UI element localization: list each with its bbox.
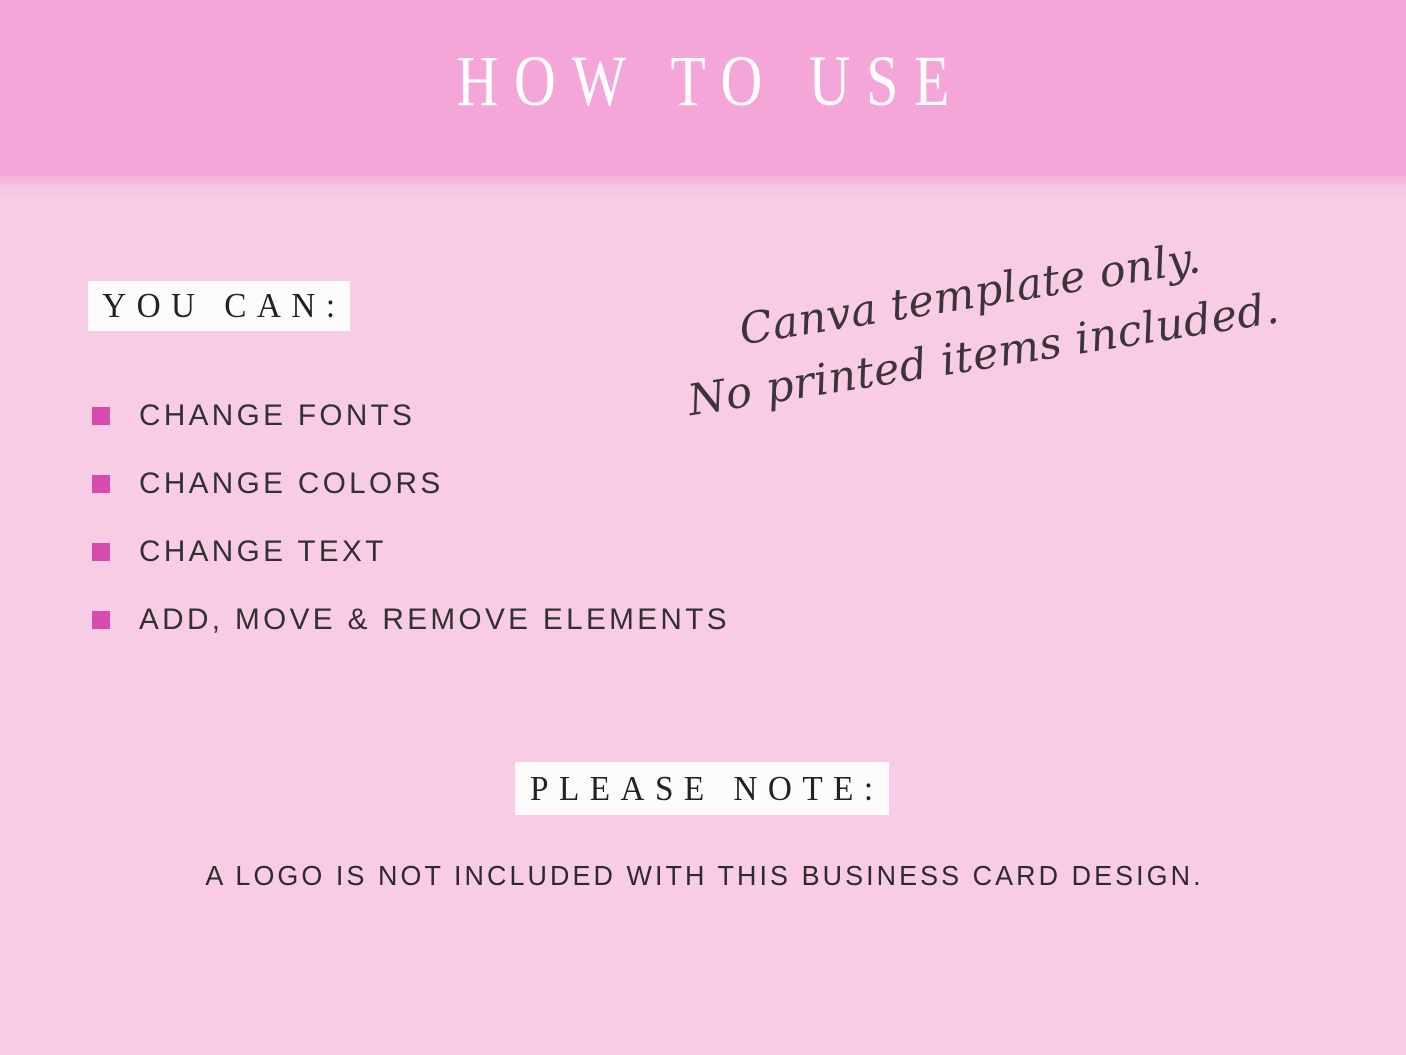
header-gradient-divider	[0, 176, 1406, 202]
square-bullet-icon	[92, 611, 110, 629]
list-item-label: CHANGE COLORS	[139, 467, 444, 501]
list-item-label: CHANGE FONTS	[139, 399, 415, 433]
list-item-label: CHANGE TEXT	[139, 535, 387, 569]
list-item-label: ADD, MOVE & REMOVE ELEMENTS	[139, 603, 730, 637]
you-can-list: CHANGE FONTS CHANGE COLORS CHANGE TEXT A…	[92, 382, 992, 654]
please-note-label-box: PLEASE NOTE:	[515, 762, 889, 815]
list-item: CHANGE TEXT	[92, 518, 992, 586]
list-item: ADD, MOVE & REMOVE ELEMENTS	[92, 586, 992, 654]
please-note-body: A LOGO IS NOT INCLUDED WITH THIS BUSINES…	[28, 860, 1378, 892]
page-title: HOW TO USE	[141, 26, 1266, 136]
list-item: CHANGE COLORS	[92, 450, 992, 518]
you-can-label-box: YOU CAN:	[88, 281, 350, 331]
square-bullet-icon	[92, 407, 110, 425]
header-band: HOW TO USE	[0, 0, 1406, 176]
square-bullet-icon	[92, 475, 110, 493]
you-can-label: YOU CAN:	[92, 286, 346, 326]
square-bullet-icon	[92, 543, 110, 561]
script-disclaimer: Canva template only. No printed items in…	[735, 206, 1347, 422]
please-note-label: PLEASE NOTE:	[520, 769, 884, 809]
how-to-use-page: HOW TO USE YOU CAN: CHANGE FONTS CHANGE …	[0, 0, 1406, 1055]
